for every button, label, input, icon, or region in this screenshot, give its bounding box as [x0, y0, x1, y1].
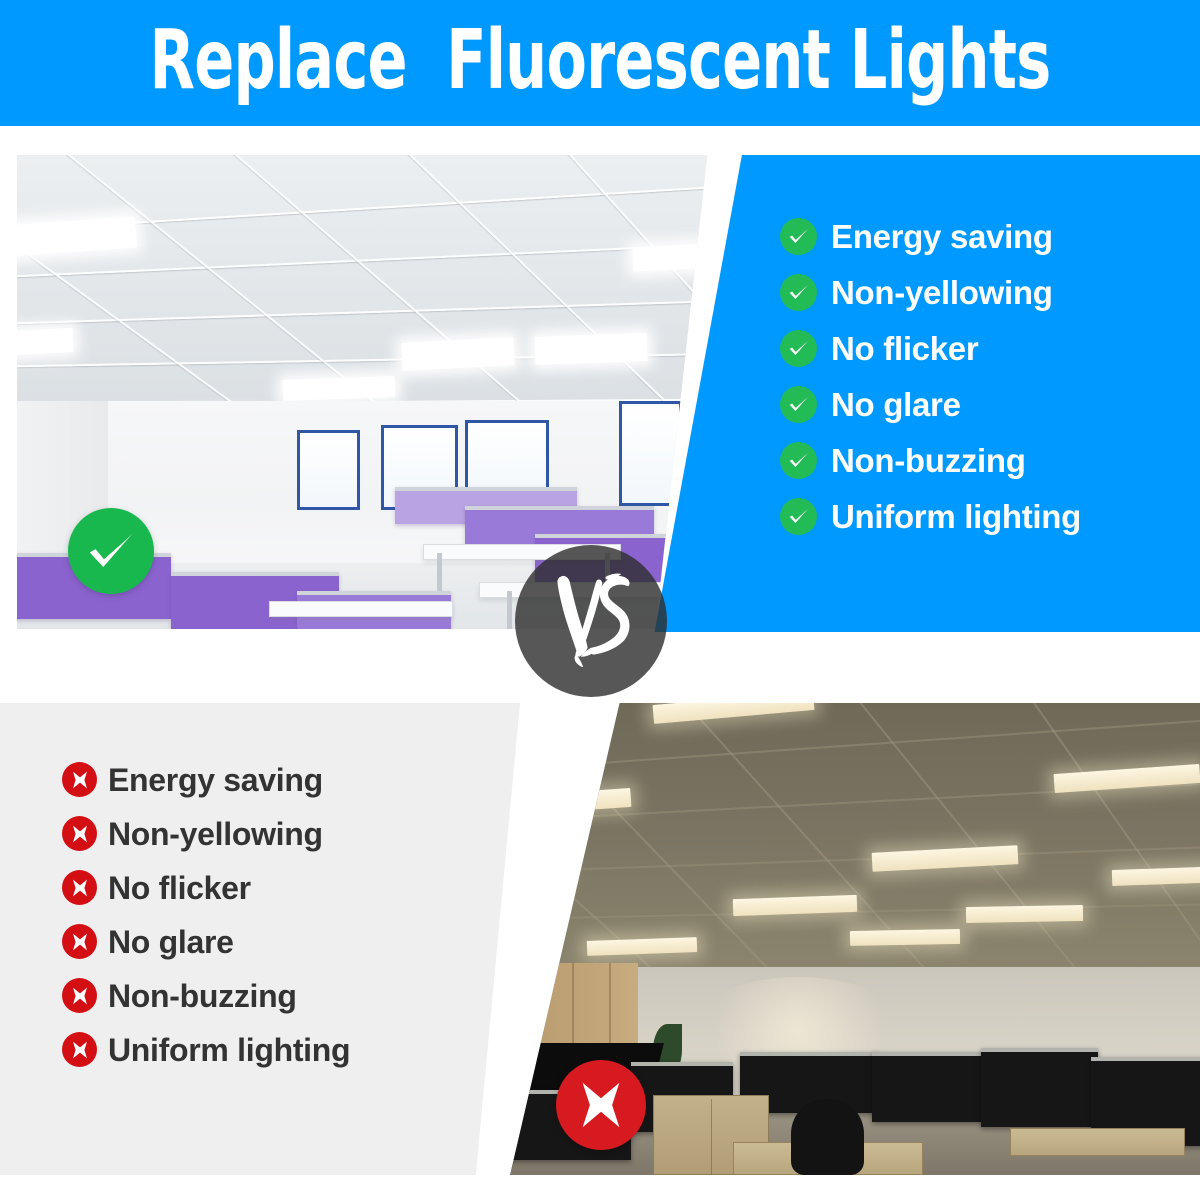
versus-badge	[515, 545, 667, 697]
list-item: Energy saving	[780, 217, 1081, 255]
fluorescent-fixture	[849, 929, 959, 946]
pro-label: Non-yellowing	[831, 276, 1053, 309]
con-label: No flicker	[108, 872, 251, 904]
infographic-canvas: Replace Fluorescent Lights	[0, 0, 1200, 1200]
con-label: Uniform lighting	[108, 1034, 350, 1066]
check-icon	[780, 274, 817, 311]
led-panel-light	[283, 376, 396, 401]
bad-x-badge	[556, 1060, 646, 1150]
pro-label: Energy saving	[831, 220, 1053, 253]
con-label: Non-buzzing	[108, 980, 297, 1012]
check-icon	[780, 218, 817, 255]
list-item: Uniform lighting	[62, 1031, 350, 1068]
office-chair	[791, 1099, 864, 1175]
wood-seam	[499, 963, 501, 1067]
con-label: Energy saving	[108, 764, 323, 796]
desk-leg	[437, 553, 442, 591]
pro-label: Uniform lighting	[831, 500, 1081, 533]
list-item: No flicker	[780, 329, 1081, 367]
list-item: No glare	[780, 385, 1081, 423]
pro-label: Non-buzzing	[831, 444, 1026, 477]
led-panel-light	[632, 242, 717, 271]
list-item: Non-buzzing	[62, 977, 350, 1014]
check-icon	[780, 442, 817, 479]
list-item: No glare	[62, 923, 350, 960]
cubicle-divider	[981, 1048, 1098, 1128]
list-item: Uniform lighting	[780, 497, 1081, 535]
pros-panel: Energy saving Non-yellowing No flicker N…	[640, 155, 1200, 632]
list-item: Energy saving	[62, 761, 350, 798]
cabinet-seam	[711, 1099, 712, 1175]
x-icon	[62, 870, 97, 905]
x-icon	[62, 762, 97, 797]
list-item: Non-yellowing	[62, 815, 350, 852]
led-panel-light	[17, 328, 74, 356]
con-label: Non-yellowing	[108, 818, 323, 850]
window	[297, 430, 360, 511]
x-icon	[62, 978, 97, 1013]
x-icon	[62, 1032, 97, 1067]
fluorescent-fixture	[1112, 866, 1200, 886]
vs-brushstroke-icon	[535, 565, 647, 677]
check-icon	[780, 330, 817, 367]
good-check-badge	[68, 508, 154, 594]
window	[619, 401, 682, 505]
list-item: Non-yellowing	[780, 273, 1081, 311]
desk	[269, 601, 453, 617]
page-title: Replace Fluorescent Lights	[120, 0, 1080, 126]
cons-list: Energy saving Non-yellowing No flicker N…	[62, 761, 350, 1068]
list-item: No flicker	[62, 869, 350, 906]
x-icon	[62, 924, 97, 959]
list-item: Non-buzzing	[780, 441, 1081, 479]
x-icon	[62, 816, 97, 851]
pro-label: No flicker	[831, 332, 978, 365]
desk	[1010, 1128, 1185, 1156]
wood-seam	[536, 963, 538, 1067]
con-label: No glare	[108, 926, 234, 958]
pros-list: Energy saving Non-yellowing No flicker N…	[780, 217, 1081, 535]
fluorescent-fixture	[733, 894, 858, 915]
cons-panel: Energy saving Non-yellowing No flicker N…	[0, 703, 520, 1175]
led-panel-light	[535, 333, 648, 365]
fluorescent-fixture	[966, 905, 1083, 923]
pro-label: No glare	[831, 388, 961, 421]
header-banner: Replace Fluorescent Lights	[0, 0, 1200, 126]
desk-leg	[507, 591, 512, 629]
cubicle-divider	[872, 1052, 989, 1122]
check-icon	[780, 386, 817, 423]
check-icon	[780, 498, 817, 535]
